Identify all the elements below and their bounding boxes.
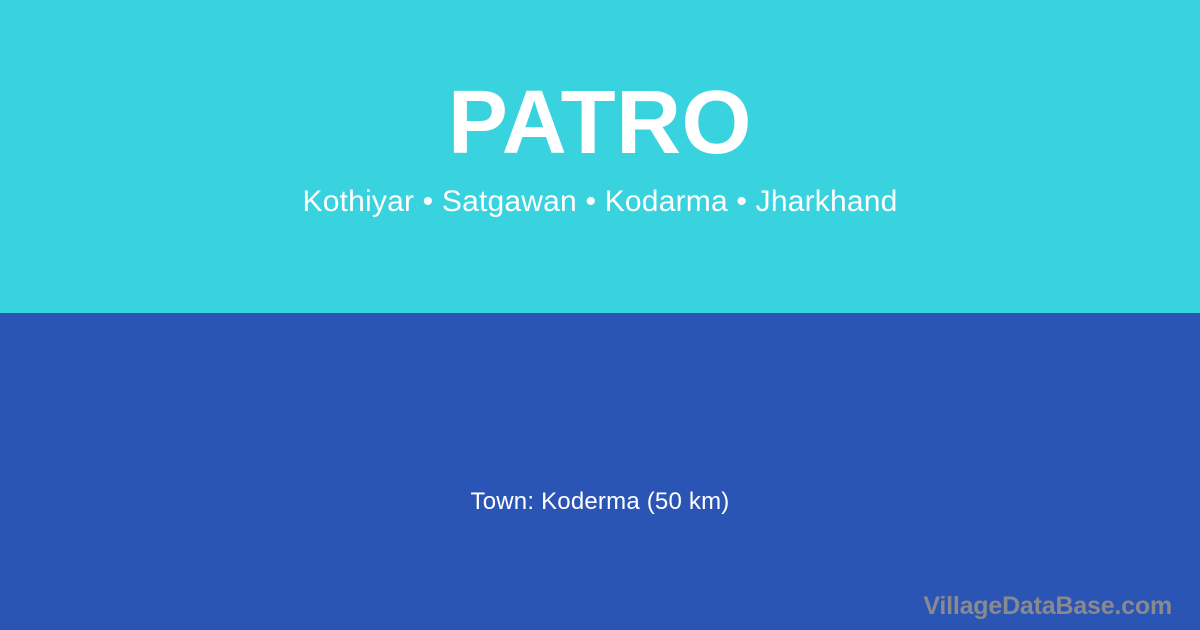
body-band: Town: Koderma (50 km)	[0, 313, 1200, 630]
nearest-town-text: Town: Koderma (50 km)	[0, 488, 1200, 517]
page-title: PATRO	[448, 78, 752, 168]
site-watermark: VillageDataBase.com	[923, 594, 1172, 619]
breadcrumb: Kothiyar • Satgawan • Kodarma • Jharkhan…	[302, 184, 897, 220]
header-band: PATRO Kothiyar • Satgawan • Kodarma • Jh…	[0, 0, 1200, 313]
village-info-card: PATRO Kothiyar • Satgawan • Kodarma • Jh…	[0, 0, 1200, 630]
